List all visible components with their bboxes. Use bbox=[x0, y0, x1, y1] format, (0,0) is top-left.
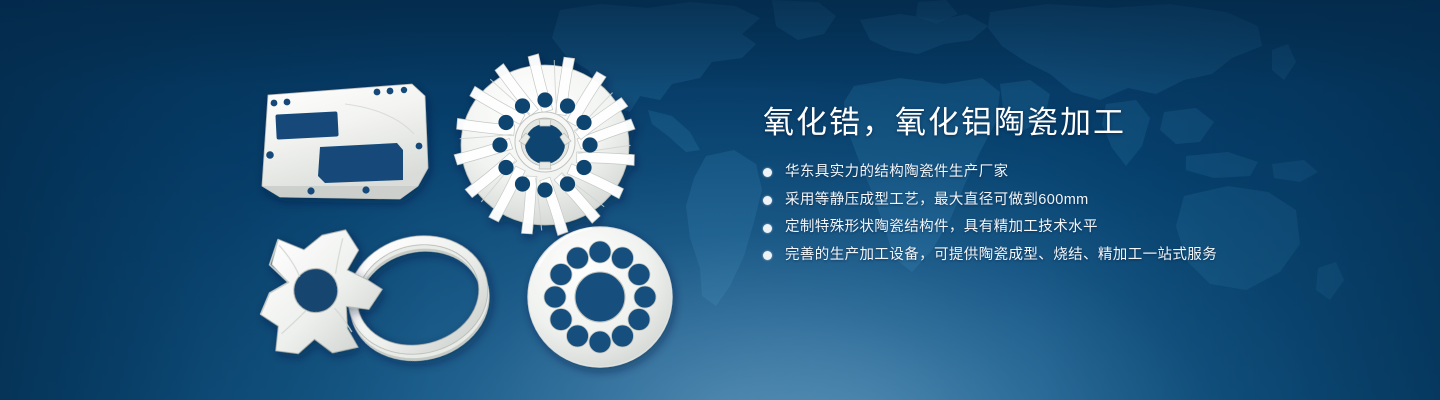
product-photo-cluster bbox=[0, 0, 720, 400]
list-item: 定制特殊形状陶瓷结构件，具有精加工技术水平 bbox=[763, 218, 1383, 238]
bullet-dot-icon bbox=[763, 196, 772, 205]
bullet-dot-icon bbox=[763, 168, 772, 177]
feature-list: 华东具实力的结构陶瓷件生产厂家 采用等静压成型工艺，最大直径可做到600mm 定… bbox=[763, 163, 1383, 265]
page-title: 氧化锆，氧化铝陶瓷加工 bbox=[763, 104, 1383, 141]
banner-copy-block: 氧化锆，氧化铝陶瓷加工 华东具实力的结构陶瓷件生产厂家 采用等静压成型工艺，最大… bbox=[763, 104, 1383, 273]
product-ceramic-plate bbox=[262, 84, 428, 199]
feature-text: 定制特殊形状陶瓷结构件，具有精加工技术水平 bbox=[785, 218, 1098, 238]
product-ceramic-perforated-disc bbox=[528, 227, 672, 367]
feature-text: 华东具实力的结构陶瓷件生产厂家 bbox=[785, 163, 1009, 183]
feature-text: 完善的生产加工设备，可提供陶瓷成型、烧结、精加工一站式服务 bbox=[785, 246, 1217, 266]
bullet-dot-icon bbox=[763, 224, 772, 233]
list-item: 完善的生产加工设备，可提供陶瓷成型、烧结、精加工一站式服务 bbox=[763, 246, 1383, 266]
list-item: 采用等静压成型工艺，最大直径可做到600mm bbox=[763, 191, 1383, 211]
feature-text: 采用等静压成型工艺，最大直径可做到600mm bbox=[785, 191, 1089, 211]
list-item: 华东具实力的结构陶瓷件生产厂家 bbox=[763, 163, 1383, 183]
bullet-dot-icon bbox=[763, 251, 772, 260]
promo-banner: 氧化锆，氧化铝陶瓷加工 华东具实力的结构陶瓷件生产厂家 采用等静压成型工艺，最大… bbox=[0, 0, 1440, 400]
product-ceramic-impeller bbox=[453, 53, 638, 238]
